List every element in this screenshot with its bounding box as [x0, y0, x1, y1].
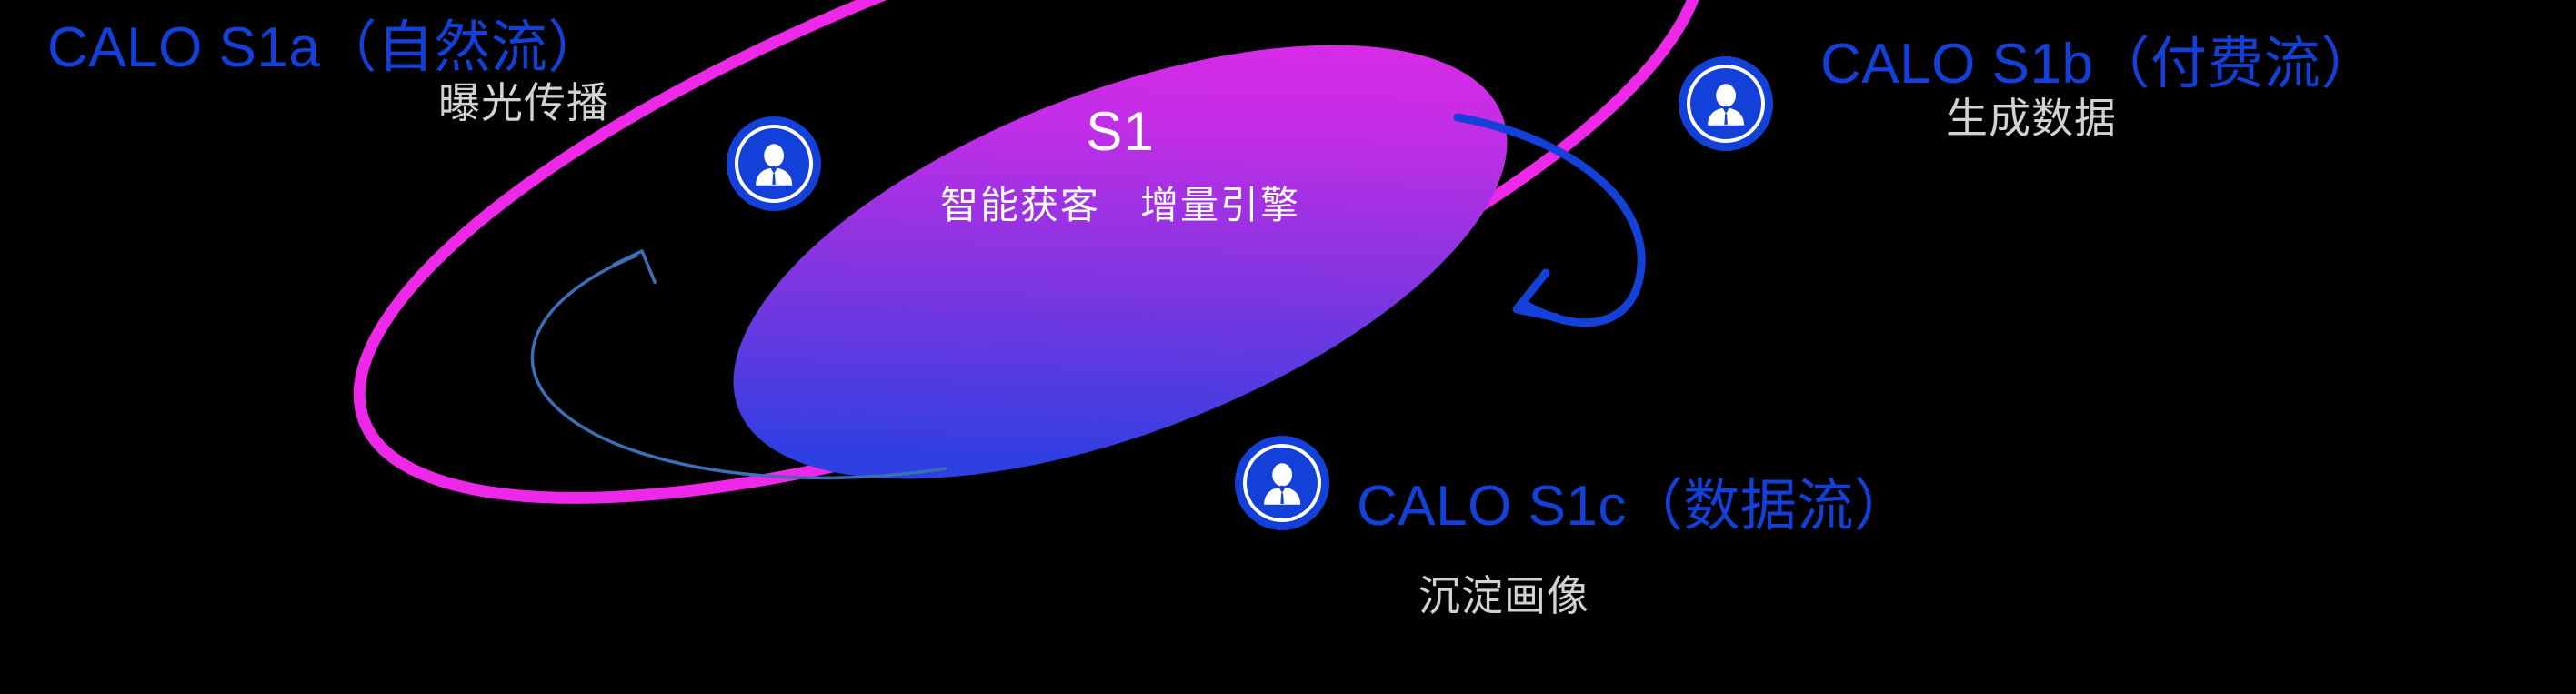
- person-in-suit-icon: [1699, 77, 1752, 130]
- label-subtitle-s1b: 生成数据: [1946, 96, 2117, 140]
- diagram-canvas: S1 智能获客 增量引擎 CALO S1a（自然流） 曝光传播 CALO S1b…: [0, 0, 2576, 694]
- node-s1b[interactable]: [1679, 56, 1773, 151]
- label-subtitle-s1c: 沉淀画像: [1418, 574, 1589, 618]
- node-s1a[interactable]: [727, 116, 821, 211]
- label-title-s1b: CALO S1b（付费流）: [1820, 35, 2378, 94]
- label-subtitle-s1a: 曝光传播: [438, 81, 609, 125]
- curved-arrow-down-left-head: [1517, 273, 1557, 317]
- node-s1c[interactable]: [1235, 436, 1329, 530]
- label-title-s1c: CALO S1c（数据流）: [1357, 477, 1910, 536]
- person-in-suit-icon: [1256, 457, 1308, 509]
- label-title-s1a: CALO S1a（自然流）: [47, 18, 605, 77]
- core-tagline: 智能获客 增量引擎: [820, 175, 1420, 230]
- core-title: S1: [929, 100, 1311, 163]
- person-in-suit-icon: [747, 137, 800, 190]
